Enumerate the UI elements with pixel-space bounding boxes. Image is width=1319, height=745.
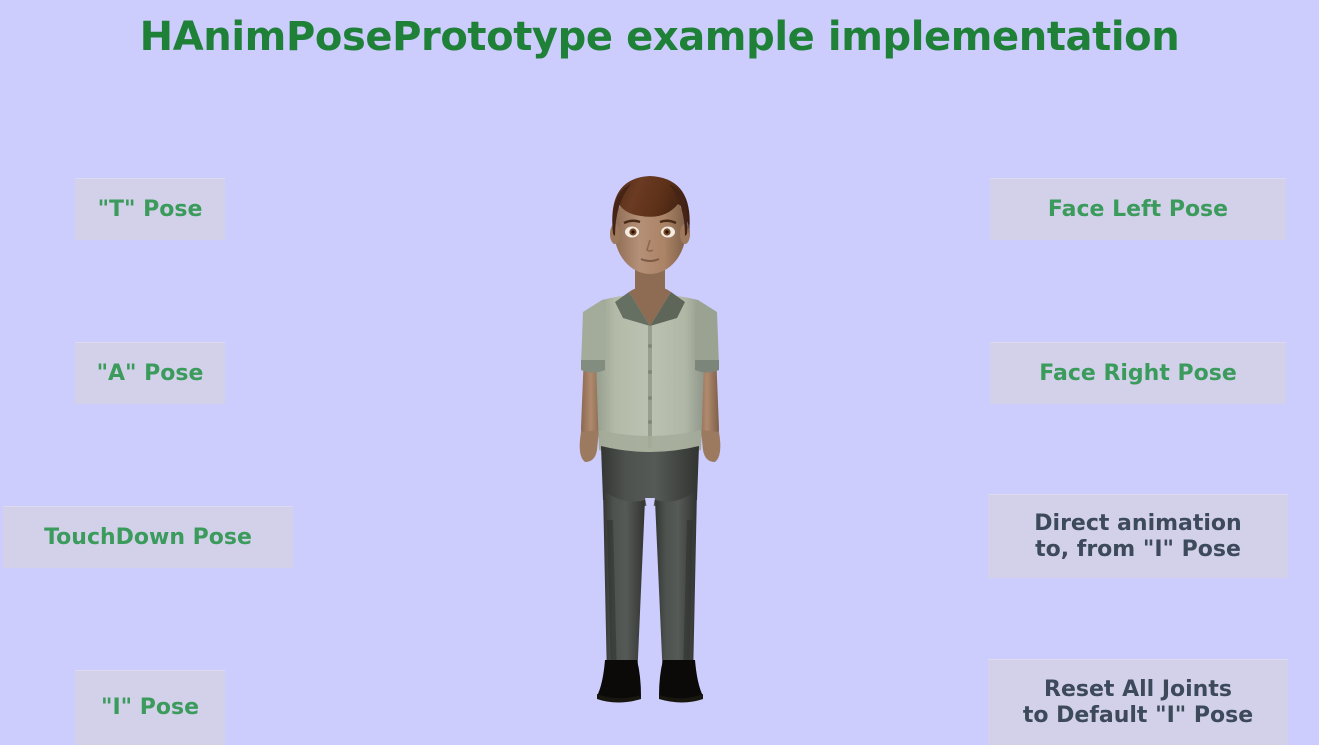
button-face-right-pose[interactable]: Face Right Pose	[990, 342, 1286, 404]
avatar-shoe-right	[659, 660, 703, 700]
button-reset-all-joints[interactable]: Reset All Joints to Default "I" Pose	[988, 659, 1288, 745]
page-title: HAnimPosePrototype example implementatio…	[0, 14, 1319, 60]
avatar-pants-hip	[601, 446, 699, 506]
avatar-leg-gap	[645, 520, 655, 680]
avatar-pupil-right	[665, 230, 668, 233]
avatar-shoe-left	[597, 660, 641, 700]
avatar-pupil-left	[631, 230, 634, 233]
avatar-sleeve-left	[581, 300, 605, 369]
avatar-sleeve-right	[695, 300, 719, 369]
button-face-left-pose[interactable]: Face Left Pose	[990, 178, 1286, 240]
avatar-hand-left	[580, 430, 599, 462]
button-touchdown-pose[interactable]: TouchDown Pose	[3, 506, 293, 568]
avatar-sleeve-cuff-right	[695, 360, 719, 373]
button-i-pose[interactable]: "I" Pose	[75, 670, 225, 745]
humanoid-avatar	[545, 160, 755, 745]
avatar-figure	[545, 160, 755, 745]
button-direct-animation[interactable]: Direct animation to, from "I" Pose	[988, 494, 1288, 578]
avatar-sleeve-cuff-left	[581, 360, 605, 373]
app-stage: HAnimPosePrototype example implementatio…	[0, 0, 1319, 745]
button-a-pose[interactable]: "A" Pose	[75, 342, 225, 404]
avatar-hand-right	[701, 430, 720, 462]
button-t-pose[interactable]: "T" Pose	[75, 178, 225, 240]
